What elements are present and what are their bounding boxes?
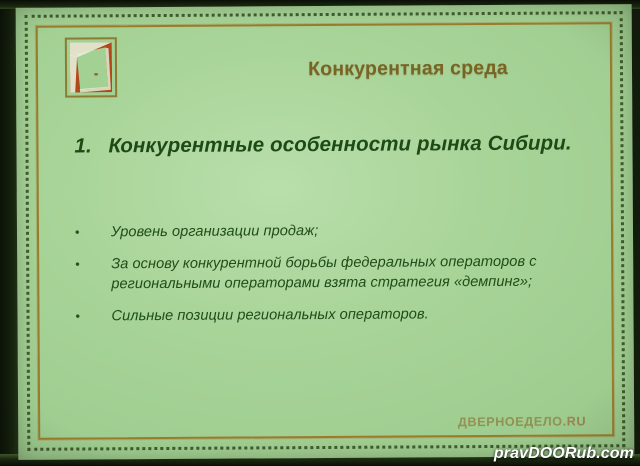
bullet-marker-icon: •: [75, 223, 111, 242]
numbered-heading: 1. Конкурентные особенности рынка Сибири…: [74, 130, 582, 158]
slide-brand-watermark: ДВЕРНОЕДЕЛО.RU: [458, 414, 586, 429]
slide-content: Конкурентная среда 1. Конкурентные особе…: [38, 24, 612, 437]
site-watermark: pravDOORub.com: [494, 445, 634, 463]
heading-text: Конкурентные особенности рынка Сибири.: [108, 130, 582, 158]
bullet-list: • Уровень организации продаж; • За основ…: [75, 220, 586, 327]
photo-canvas: Конкурентная среда 1. Конкурентные особе…: [0, 0, 640, 466]
door-frame-logo: [65, 37, 117, 97]
list-item: • За основу конкурентной борьбы федераль…: [75, 253, 585, 295]
slide-brand-name: ДВЕРНОЕДЕЛО: [458, 415, 563, 430]
door-frame-icon: [70, 42, 112, 92]
logo-artwork: [70, 42, 112, 92]
slide-title: Конкурентная среда: [208, 56, 608, 81]
list-item-text: Уровень организации продаж;: [111, 220, 585, 242]
slide-brand-tld: .RU: [563, 414, 587, 428]
heading-number: 1.: [74, 133, 108, 158]
list-item-text: Сильные позиции региональных операторов.: [111, 305, 585, 327]
bullet-marker-icon: •: [75, 256, 111, 275]
list-item-text: За основу конкурентной борьбы федеральны…: [111, 253, 585, 295]
presentation-slide: Конкурентная среда 1. Конкурентные особе…: [16, 4, 635, 460]
list-item: • Уровень организации продаж;: [75, 220, 585, 243]
list-item: • Сильные позиции региональных операторо…: [75, 305, 585, 328]
bullet-marker-icon: •: [75, 308, 111, 327]
